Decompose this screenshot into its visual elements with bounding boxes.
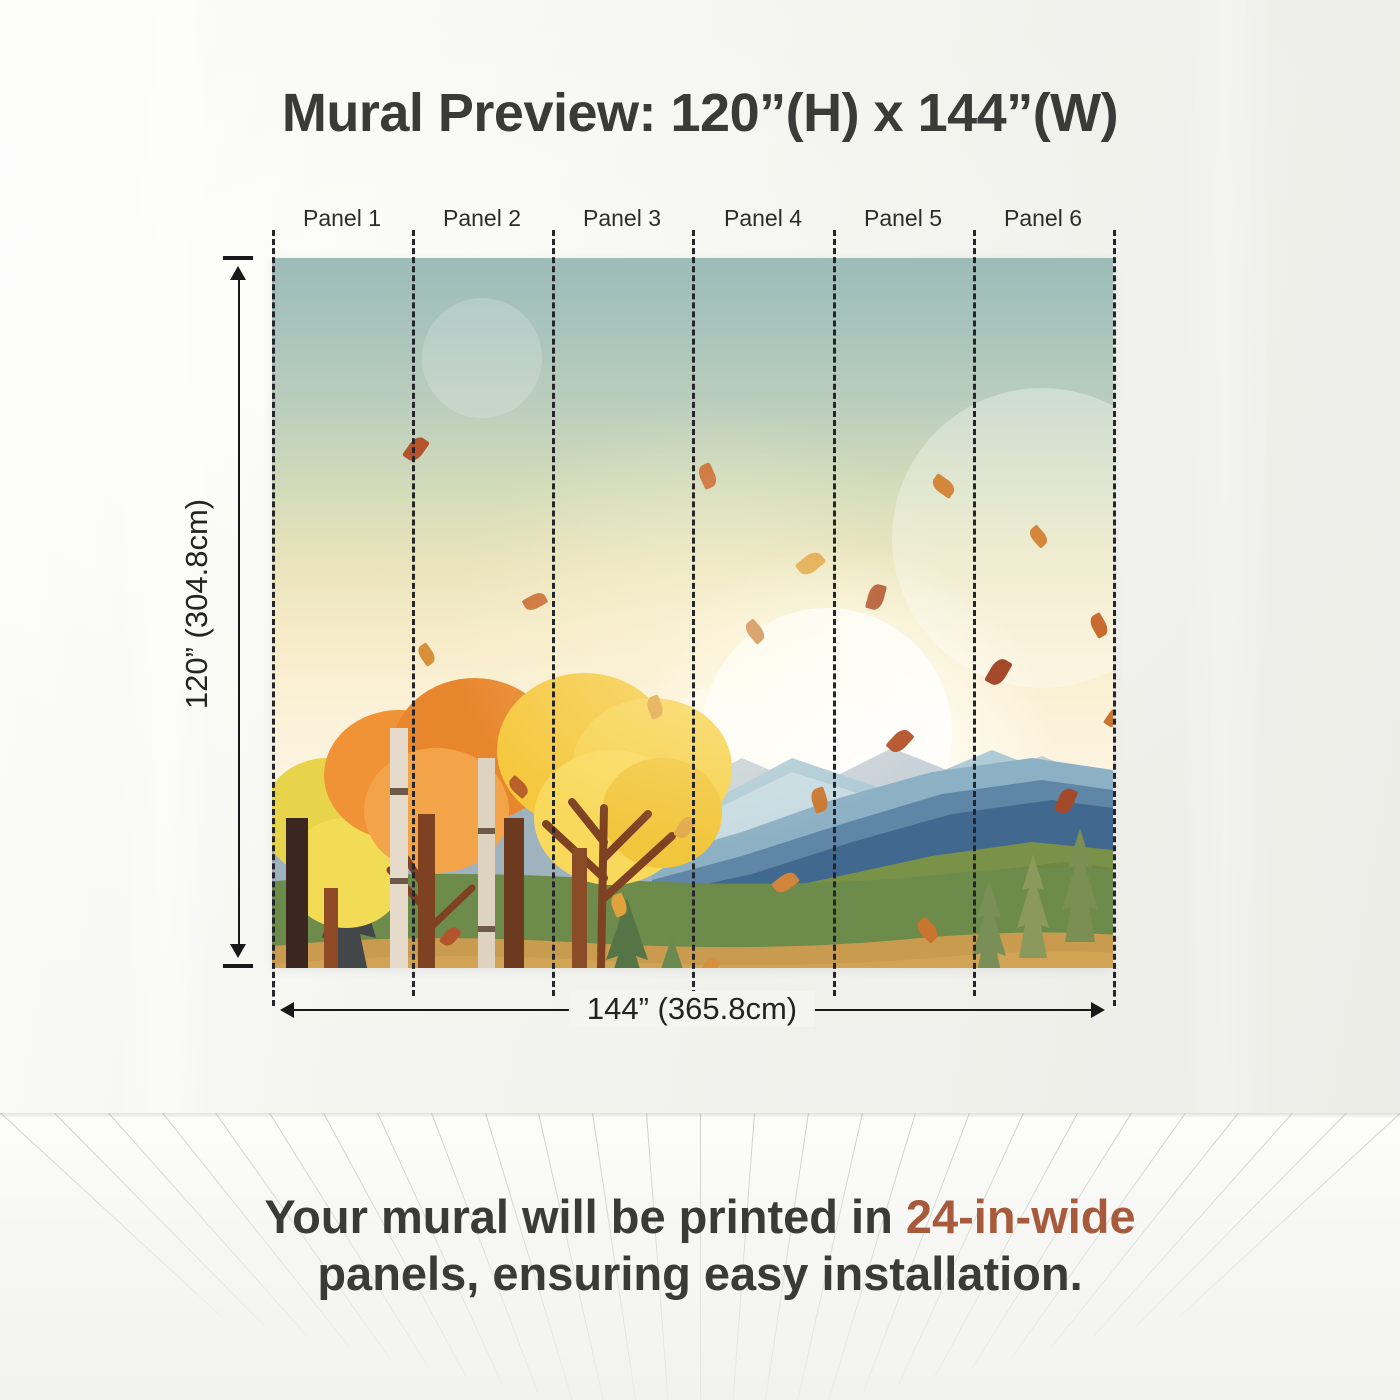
width-tick-right <box>1113 972 1116 1006</box>
panel-divider-1 <box>412 230 415 996</box>
height-dimension-arrow <box>237 256 241 968</box>
panel-label-5: Panel 5 <box>864 205 942 232</box>
tree-trunk <box>504 818 524 968</box>
conifer-tree <box>1017 854 1049 962</box>
wall-light-streak <box>1180 0 1270 1113</box>
panel-label-1: Panel 1 <box>303 205 381 232</box>
page-title: Mural Preview: 120”(H) x 144”(W) <box>0 82 1400 144</box>
conifer-tree <box>1062 828 1098 946</box>
caption-prefix: Your mural will be printed in <box>264 1190 906 1243</box>
birch-trunk <box>286 818 308 968</box>
caption-highlight: 24-in-wide <box>906 1190 1136 1243</box>
dimension-tick-top <box>223 256 253 260</box>
panel-label-4: Panel 4 <box>724 205 802 232</box>
panel-label-3: Panel 3 <box>583 205 661 232</box>
tree-branches <box>522 758 702 968</box>
mural-preview[interactable]: Panel 1 Panel 2 Panel 3 Panel 4 Panel 5 … <box>272 258 1113 968</box>
conifer-tree <box>972 880 1006 968</box>
panel-label-2: Panel 2 <box>443 205 521 232</box>
birch-trunk <box>370 728 430 968</box>
bokeh-circle <box>422 298 542 418</box>
arrowhead-left <box>280 1002 294 1018</box>
dimension-tick-bottom <box>223 964 253 968</box>
width-tick-left <box>272 972 275 1006</box>
caption-line-1: Your mural will be printed in 24-in-wide <box>0 1188 1400 1245</box>
panel-label-6: Panel 6 <box>1004 205 1082 232</box>
dimension-line <box>238 270 240 954</box>
height-dimension-label: 120” (304.8cm) <box>179 499 215 709</box>
arrowhead-right <box>1091 1002 1105 1018</box>
panel-divider-right-edge <box>1113 230 1116 996</box>
width-dimension-label: 144” (365.8cm) <box>569 991 815 1027</box>
panel-divider-2 <box>552 230 555 996</box>
panel-divider-4 <box>833 230 836 996</box>
tree-trunk <box>572 848 587 968</box>
caption: Your mural will be printed in 24-in-wide… <box>0 1188 1400 1303</box>
caption-line-2: panels, ensuring easy installation. <box>0 1245 1400 1302</box>
panel-divider-5 <box>973 230 976 996</box>
panel-divider-left-edge <box>272 230 275 996</box>
panel-divider-3 <box>692 230 695 996</box>
tree-trunk <box>324 888 338 968</box>
